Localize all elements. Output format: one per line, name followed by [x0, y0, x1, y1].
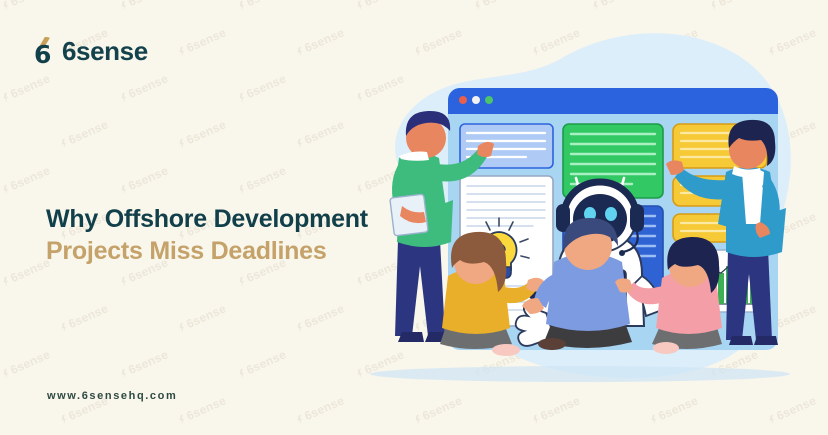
watermark-text: 6sense [176, 393, 228, 426]
window-dot-gray [472, 96, 480, 104]
blog-banner: 6sense6sense6sense6sense6sense6sense6sen… [0, 0, 828, 435]
watermark-text: 6sense [0, 71, 52, 104]
watermark-text: 6sense [118, 0, 170, 13]
window-dot-red [459, 96, 467, 104]
robot-eye-right [605, 207, 617, 221]
watermark-text: 6sense [236, 0, 288, 13]
watermark-text: 6sense [176, 25, 228, 58]
watermark-text: 6sense [118, 163, 170, 196]
window-dot-green [485, 96, 493, 104]
watermark-text: 6sense [0, 163, 52, 196]
brand-logo-text: 6sense [62, 36, 148, 67]
watermark-text: 6sense [58, 117, 110, 150]
site-url[interactable]: www.6sensehq.com [47, 390, 177, 402]
headline-line-1: Why Offshore Development [46, 203, 368, 235]
watermark-text: 6sense [236, 163, 288, 196]
headline-line-2: Projects Miss Deadlines [46, 235, 368, 267]
watermark-text: 6sense [0, 0, 52, 13]
watermark-text: 6sense [118, 347, 170, 380]
watermark-text: 6sense [0, 347, 52, 380]
watermark-text: 6sense [118, 71, 170, 104]
watermark-text: 6sense [58, 301, 110, 334]
watermark-text: 6sense [236, 71, 288, 104]
watermark-text: 6sense [176, 117, 228, 150]
brand-logo[interactable]: 6 6sense [33, 36, 148, 67]
hero-illustration [330, 0, 828, 435]
watermark-text: 6sense [0, 255, 52, 288]
page-title: Why Offshore Development Projects Miss D… [46, 203, 368, 267]
watermark-text: 6sense [236, 347, 288, 380]
6sense-flame-icon: 6 [33, 37, 55, 67]
watermark-text: 6sense [176, 301, 228, 334]
